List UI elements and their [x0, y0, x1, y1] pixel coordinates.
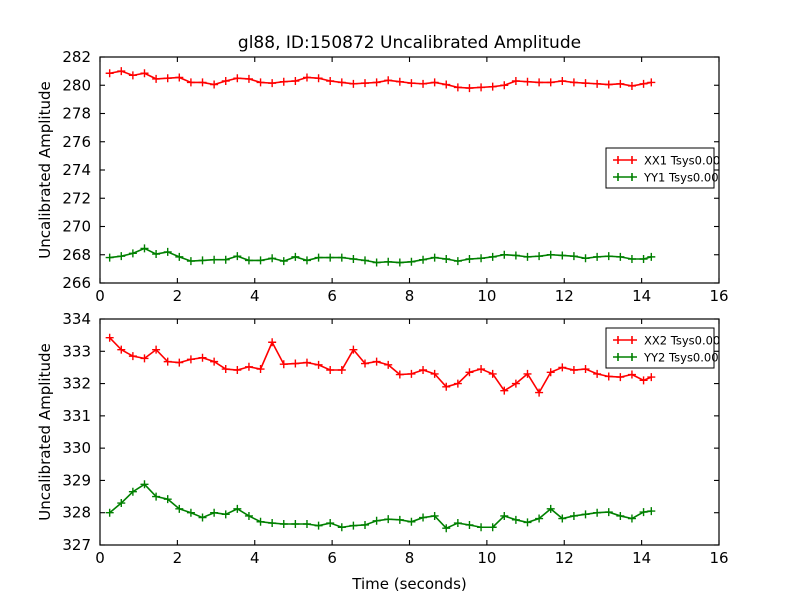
data-point-marker — [349, 80, 357, 88]
data-point-marker — [647, 78, 655, 86]
data-point-marker — [233, 252, 241, 260]
data-point-marker — [303, 256, 311, 264]
data-point-marker — [431, 254, 439, 262]
data-point-marker — [175, 359, 183, 367]
legend-label-2: YY1 Tsys0.00 — [643, 171, 719, 185]
x-tick-label: 8 — [405, 549, 415, 567]
data-point-marker — [454, 83, 462, 91]
data-point-marker — [616, 512, 624, 520]
y-tick-label: 278 — [62, 105, 91, 123]
data-point-marker — [442, 255, 450, 263]
data-point-marker — [315, 522, 323, 530]
x-tick-label: 12 — [555, 549, 574, 567]
data-point-marker — [233, 505, 241, 513]
data-point-marker — [187, 355, 195, 363]
x-tick-label: 2 — [173, 549, 183, 567]
data-point-marker — [407, 79, 415, 87]
data-point-marker — [512, 251, 520, 259]
series-2 — [106, 480, 656, 532]
data-point-marker — [419, 366, 427, 374]
data-point-marker — [280, 257, 288, 265]
data-point-marker — [628, 82, 636, 90]
data-point-marker — [640, 255, 648, 263]
y-tick-label: 270 — [62, 218, 91, 236]
data-point-marker — [222, 510, 230, 518]
data-point-marker — [616, 80, 624, 88]
data-point-marker — [477, 523, 485, 531]
data-point-marker — [117, 67, 125, 75]
legend[interactable]: XX1 Tsys0.00YY1 Tsys0.00 — [606, 148, 720, 188]
data-point-marker — [640, 80, 648, 88]
data-point-marker — [338, 523, 346, 531]
data-point-marker — [373, 78, 381, 86]
data-point-marker — [257, 518, 265, 526]
data-point-marker — [349, 522, 357, 530]
data-point-marker — [454, 519, 462, 527]
data-point-marker — [465, 84, 473, 92]
data-point-marker — [593, 253, 601, 261]
data-point-marker — [361, 256, 369, 264]
data-point-marker — [640, 376, 648, 384]
data-point-marker — [117, 252, 125, 260]
data-point-marker — [419, 514, 427, 522]
data-point-marker — [647, 253, 655, 261]
data-point-marker — [593, 370, 601, 378]
data-point-marker — [500, 251, 508, 259]
data-point-marker — [268, 519, 276, 527]
data-point-marker — [547, 368, 555, 376]
data-point-marker — [593, 80, 601, 88]
data-point-marker — [315, 361, 323, 369]
data-point-marker — [303, 520, 311, 528]
figure-container: gl88, ID:150872 Uncalibrated Amplitude02… — [0, 0, 800, 600]
legend-label-1: XX2 Tsys0.00 — [644, 334, 720, 348]
data-point-marker — [384, 515, 392, 523]
y-tick-label: 280 — [62, 76, 91, 94]
x-tick-label: 0 — [95, 549, 105, 567]
data-point-marker — [558, 363, 566, 371]
data-point-marker — [442, 81, 450, 89]
data-point-marker — [512, 77, 520, 85]
data-point-marker — [396, 78, 404, 86]
y-tick-label: 274 — [62, 161, 91, 179]
data-point-marker — [106, 69, 114, 77]
data-point-marker — [199, 78, 207, 86]
data-point-marker — [199, 354, 207, 362]
data-point-marker — [245, 75, 253, 83]
data-point-marker — [384, 258, 392, 266]
y-tick-label: 328 — [62, 504, 91, 522]
data-point-marker — [547, 251, 555, 259]
data-point-marker — [407, 258, 415, 266]
x-tick-label: 0 — [95, 287, 105, 305]
data-point-marker — [152, 250, 160, 258]
axes-panel-top: 0246810121416266268270272274276278280282… — [36, 48, 729, 305]
data-point-marker — [175, 73, 183, 81]
data-point-marker — [535, 78, 543, 86]
data-point-marker — [140, 244, 148, 252]
legend[interactable]: XX2 Tsys0.00YY2 Tsys0.00 — [606, 328, 720, 368]
data-point-marker — [535, 389, 543, 397]
data-point-marker — [245, 256, 253, 264]
data-point-marker — [233, 366, 241, 374]
y-axis-title: Uncalibrated Amplitude — [36, 81, 54, 258]
data-point-marker — [268, 79, 276, 87]
data-point-marker — [593, 509, 601, 517]
data-point-marker — [640, 508, 648, 516]
data-point-marker — [222, 256, 230, 264]
data-point-marker — [558, 251, 566, 259]
data-point-marker — [582, 365, 590, 373]
data-point-marker — [477, 365, 485, 373]
data-point-marker — [291, 520, 299, 528]
data-point-marker — [582, 254, 590, 262]
data-point-marker — [647, 507, 655, 515]
data-point-marker — [291, 253, 299, 261]
data-point-marker — [187, 509, 195, 517]
data-point-marker — [465, 521, 473, 529]
data-point-marker — [349, 255, 357, 263]
data-point-marker — [407, 518, 415, 526]
y-axis-title: Uncalibrated Amplitude — [36, 343, 54, 520]
series-2 — [106, 244, 656, 266]
data-point-marker — [535, 252, 543, 260]
data-point-marker — [547, 78, 555, 86]
data-point-marker — [338, 254, 346, 262]
data-point-marker — [257, 256, 265, 264]
data-point-marker — [431, 78, 439, 86]
data-point-marker — [500, 81, 508, 89]
data-point-marker — [210, 509, 218, 517]
y-tick-label: 272 — [62, 189, 91, 207]
data-point-marker — [280, 520, 288, 528]
data-point-marker — [268, 254, 276, 262]
data-point-marker — [628, 371, 636, 379]
data-point-marker — [605, 252, 613, 260]
data-point-marker — [303, 73, 311, 81]
data-point-marker — [384, 76, 392, 84]
data-point-marker — [280, 78, 288, 86]
data-point-marker — [129, 71, 137, 79]
data-point-marker — [280, 360, 288, 368]
y-tick-label: 327 — [62, 536, 91, 554]
data-point-marker — [257, 78, 265, 86]
data-point-marker — [361, 79, 369, 87]
x-tick-label: 6 — [327, 287, 337, 305]
y-tick-label: 268 — [62, 246, 91, 264]
data-point-marker — [605, 508, 613, 516]
data-point-marker — [233, 74, 241, 82]
x-tick-label: 4 — [250, 287, 260, 305]
x-tick-label: 12 — [555, 287, 574, 305]
data-point-marker — [326, 366, 334, 374]
data-point-marker — [291, 77, 299, 85]
data-point-marker — [373, 259, 381, 267]
data-point-marker — [106, 254, 114, 262]
data-point-marker — [647, 373, 655, 381]
x-tick-label: 8 — [405, 287, 415, 305]
data-point-marker — [164, 74, 172, 82]
data-point-marker — [396, 516, 404, 524]
data-point-marker — [524, 253, 532, 261]
data-point-marker — [326, 254, 334, 262]
y-tick-label: 276 — [62, 133, 91, 151]
data-point-marker — [570, 512, 578, 520]
legend-label-1: XX1 Tsys0.00 — [644, 154, 720, 168]
x-axis-title: Time (seconds) — [351, 575, 467, 593]
y-tick-label: 333 — [62, 342, 91, 360]
data-point-marker — [140, 69, 148, 77]
data-point-marker — [628, 515, 636, 523]
data-point-marker — [129, 352, 137, 360]
data-point-marker — [338, 78, 346, 86]
y-tick-label: 329 — [62, 471, 91, 489]
y-tick-label: 330 — [62, 439, 91, 457]
data-point-marker — [570, 252, 578, 260]
data-point-marker — [570, 366, 578, 374]
data-point-marker — [210, 81, 218, 89]
data-point-marker — [222, 365, 230, 373]
data-point-marker — [268, 338, 276, 346]
data-point-marker — [361, 521, 369, 529]
x-tick-label: 4 — [250, 549, 260, 567]
data-point-marker — [570, 78, 578, 86]
y-tick-label: 334 — [62, 310, 91, 328]
data-point-marker — [373, 358, 381, 366]
series-line — [110, 338, 652, 393]
axes-panel-bottom: 0246810121416327328329330331332333334Unc… — [36, 310, 729, 593]
figure-title: gl88, ID:150872 Uncalibrated Amplitude — [238, 33, 581, 53]
data-point-marker — [175, 253, 183, 261]
data-point-marker — [477, 83, 485, 91]
data-point-marker — [616, 253, 624, 261]
data-point-marker — [512, 516, 520, 524]
data-point-marker — [210, 358, 218, 366]
plot-canvas: gl88, ID:150872 Uncalibrated Amplitude02… — [0, 0, 800, 600]
x-tick-label: 14 — [632, 549, 651, 567]
data-point-marker — [465, 255, 473, 263]
data-point-marker — [616, 373, 624, 381]
x-tick-label: 14 — [632, 287, 651, 305]
x-tick-label: 2 — [173, 287, 183, 305]
x-tick-label: 16 — [709, 549, 728, 567]
data-point-marker — [164, 248, 172, 256]
data-point-marker — [187, 257, 195, 265]
data-point-marker — [187, 78, 195, 86]
data-point-marker — [338, 366, 346, 374]
data-point-marker — [419, 256, 427, 264]
y-tick-label: 282 — [62, 48, 91, 66]
data-point-marker — [245, 512, 253, 520]
data-point-marker — [291, 360, 299, 368]
series-1 — [106, 334, 656, 397]
y-tick-label: 266 — [62, 274, 91, 292]
data-point-marker — [407, 370, 415, 378]
data-point-marker — [199, 514, 207, 522]
x-tick-label: 6 — [327, 549, 337, 567]
data-point-marker — [315, 254, 323, 262]
data-point-marker — [524, 78, 532, 86]
data-point-marker — [524, 518, 532, 526]
data-point-marker — [326, 77, 334, 85]
data-point-marker — [582, 79, 590, 87]
data-point-marker — [605, 81, 613, 89]
data-point-marker — [210, 256, 218, 264]
x-tick-label: 10 — [477, 287, 496, 305]
data-point-marker — [303, 359, 311, 367]
x-tick-label: 16 — [709, 287, 728, 305]
data-point-marker — [257, 365, 265, 373]
series-line — [110, 484, 652, 528]
x-tick-label: 10 — [477, 549, 496, 567]
data-point-marker — [315, 74, 323, 82]
data-point-marker — [582, 510, 590, 518]
data-point-marker — [245, 363, 253, 371]
data-point-marker — [326, 519, 334, 527]
data-point-marker — [489, 253, 497, 261]
data-point-marker — [419, 80, 427, 88]
data-point-marker — [454, 257, 462, 265]
y-tick-label: 331 — [62, 407, 91, 425]
data-point-marker — [129, 249, 137, 257]
data-point-marker — [605, 372, 613, 380]
data-point-marker — [628, 255, 636, 263]
data-point-marker — [489, 83, 497, 91]
data-point-marker — [373, 517, 381, 525]
data-point-marker — [396, 259, 404, 267]
data-point-marker — [152, 75, 160, 83]
data-point-marker — [222, 77, 230, 85]
data-point-marker — [558, 77, 566, 85]
data-point-marker — [477, 254, 485, 262]
data-point-marker — [199, 256, 207, 264]
legend-label-2: YY2 Tsys0.00 — [643, 351, 719, 365]
y-tick-label: 332 — [62, 375, 91, 393]
series-1 — [106, 67, 656, 92]
